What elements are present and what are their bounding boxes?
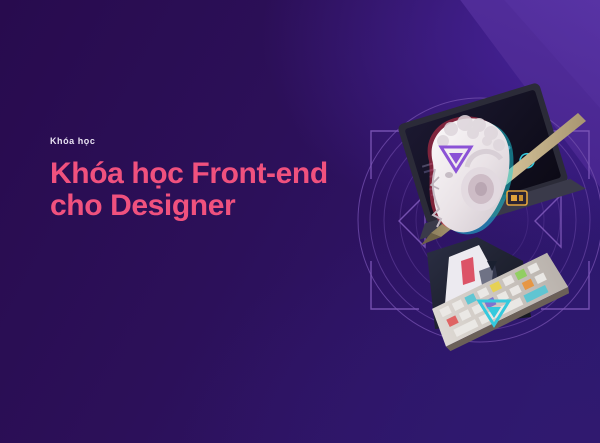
course-promo-banner: Khóa học Khóa học Front-end cho Designer [0, 0, 600, 443]
hero-illustration [375, 85, 590, 350]
eyebrow-label: Khóa học [50, 136, 380, 146]
small-orange-badge [507, 191, 527, 205]
page-title: Khóa học Front-end cho Designer [50, 158, 380, 223]
banner-copy: Khóa học Khóa học Front-end cho Designer [50, 136, 380, 223]
